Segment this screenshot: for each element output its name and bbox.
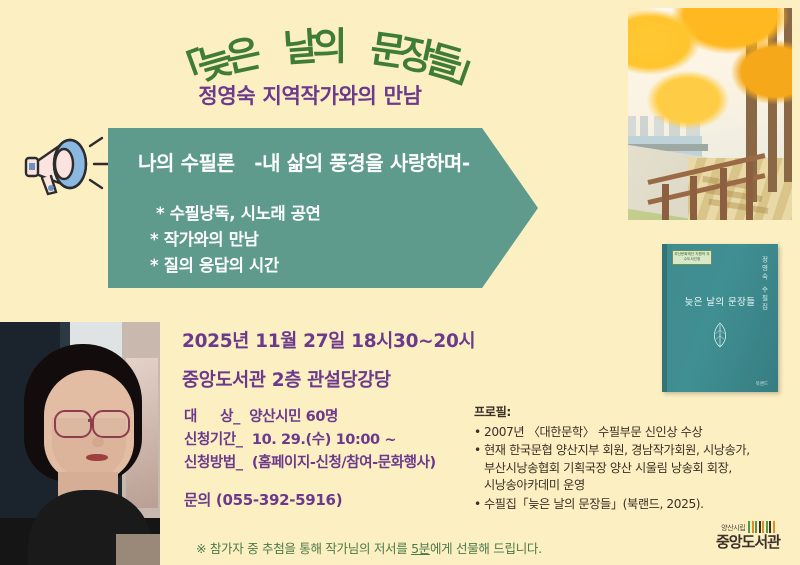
page-subtitle: 정영숙 지역작가와의 만남 <box>0 80 620 110</box>
page-title: 「늦은 날의 문장들」 <box>120 14 540 84</box>
portrait-glasses-right <box>92 410 130 438</box>
library-logo: 양산시립 중앙도서관 <box>706 520 790 556</box>
banner-item: * 수필낭독, 시노래 공연 <box>150 201 321 227</box>
book-title-label: 늦은 날의 문장들 <box>662 294 778 308</box>
banner-item-list: * 수필낭독, 시노래 공연 * 작가와의 만남 * 질의 응답의 시간 <box>150 201 321 279</box>
logo-bar <box>759 521 761 533</box>
logo-barcode-icon <box>748 521 775 533</box>
logo-bar <box>773 521 775 533</box>
logo-name-label: 중앙도서관 <box>706 533 790 551</box>
logo-bar <box>752 521 754 533</box>
book-cover: 부산문화재단 지원작 우수도서선정 정영숙 수필집 늦은 날의 문장들 북랜드 <box>662 244 778 392</box>
program-banner: 나의 수필론 -내 삶의 풍경을 사랑하며- * 수필낭독, 시노래 공연 * … <box>108 128 538 288</box>
profile-label: 프로필: <box>474 404 784 422</box>
event-venue: 중앙도서관 2층 관설당강당 <box>182 366 391 392</box>
event-details: 대 상_ 양산시민 60명 신청기간_ 10. 29.(수) 10:00 ~ 신… <box>184 406 436 475</box>
autumn-ginkgo-photo <box>628 8 792 220</box>
event-poster: 「늦은 날의 문장들」 정영숙 지역작가와의 만남 나의 수필론 -내 삶의 풍… <box>0 0 800 565</box>
title-character: 의 <box>313 16 348 71</box>
photo-fence-post <box>746 162 753 220</box>
logo-bar <box>762 521 764 533</box>
event-datetime: 2025년 11월 27일 18시30~20시 <box>182 327 475 353</box>
logo-city-label: 양산시립 <box>721 524 745 533</box>
photo-fence-post <box>690 176 697 220</box>
logo-bar <box>766 521 768 533</box>
author-profile: 프로필: 2007년 〈대한문학〉 수필부문 신인상 수상 현재 한국문협 양산… <box>474 404 784 514</box>
portrait-glasses-bridge <box>88 419 94 422</box>
event-detail-method: 신청방법_ (홈페이지-신청/참여-문화행사) <box>184 452 436 475</box>
footer-note: ※ 참가자 중 추첨을 통해 작가님의 저서를 5분에게 선물해 드립니다. <box>196 538 542 557</box>
list-item: 수필집「늦은 날의 문장들」(북랜드, 2025). <box>474 496 784 514</box>
portrait-nose <box>92 437 104 447</box>
logo-bar <box>769 521 771 533</box>
author-portrait <box>0 322 160 565</box>
title-character <box>262 24 281 69</box>
logo-bar <box>748 521 750 533</box>
list-item: 현재 한국문협 양산지부 회원, 경남작가회원, 시낭송가, 부산시낭송협회 기… <box>474 442 784 495</box>
event-detail-audience: 대 상_ 양산시민 60명 <box>184 406 436 429</box>
banner-heading: 나의 수필론 -내 삶의 풍경을 사랑하며- <box>138 147 470 176</box>
banner-item: * 작가와의 만남 <box>150 227 321 253</box>
megaphone-icon <box>18 122 114 206</box>
photo-fence-post <box>720 168 727 220</box>
portrait-mouth <box>86 454 108 461</box>
event-detail-period: 신청기간_ 10. 29.(수) 10:00 ~ <box>184 429 436 452</box>
contact-phone[interactable]: 문의 (055-392-5916) <box>184 489 342 510</box>
logo-bar <box>755 521 757 533</box>
photo-ginkgo-canopy <box>628 8 792 152</box>
footer-note-underline: 5분 <box>411 541 430 556</box>
list-item: 2007년 〈대한문학〉 수필부문 신인상 수상 <box>474 424 784 442</box>
portrait-glasses-left <box>54 410 92 438</box>
leaf-icon <box>710 322 730 348</box>
banner-item: * 질의 응답의 시간 <box>150 253 321 279</box>
book-award-badge: 부산문화재단 지원작 우수도서선정 <box>672 250 712 265</box>
logo-top-row: 양산시립 <box>706 520 790 533</box>
title-character <box>351 22 367 67</box>
book-publisher-label: 북랜드 <box>756 381 768 387</box>
portrait-floral-pattern <box>116 534 160 565</box>
profile-list: 2007년 〈대한문학〉 수필부문 신인상 수상 현재 한국문협 양산지부 회원… <box>474 424 784 514</box>
footer-note-suffix: 에게 선물해 드립니다. <box>430 541 542 556</box>
footer-note-prefix: ※ 참가자 중 추첨을 통해 작가님의 저서를 <box>196 541 411 556</box>
photo-fence-post <box>662 184 669 220</box>
book-spine <box>662 244 667 392</box>
